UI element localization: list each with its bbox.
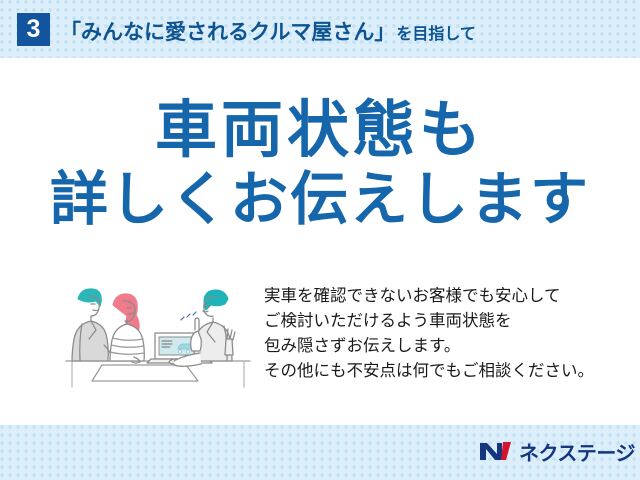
headline-line-1: 車両状態も [0, 96, 640, 166]
body-text: 実車を確認できないお客様でも安心して ご検討いただけるよう車両状態を 包み隠さず… [264, 284, 614, 384]
body-text-line-3: 包み隠さずお伝えします。 [264, 334, 614, 359]
nextage-logo: ネクステージ [478, 436, 635, 466]
body-text-line-2: ご検討いただけるよう車両状態を [264, 309, 614, 334]
body-text-line-4: その他にも不安点は何でもご相談ください。 [264, 359, 614, 384]
page-headline: 車両状態も 詳しくお伝えします [0, 96, 640, 234]
advertisement-page: 3 「みんなに愛されるクルマ屋さん」 を目指して 車両状態も 詳しくお伝えします [0, 0, 640, 480]
nextage-logo-mark [478, 439, 514, 463]
header-title-quoted: 「みんなに愛されるクルマ屋さん」 [60, 16, 395, 46]
header-title-suffix: を目指して [395, 20, 476, 44]
nextage-logo-text: ネクステージ [519, 437, 635, 466]
sales-consultation-illustration [58, 273, 258, 391]
illustration-svg [58, 273, 258, 391]
step-number-badge: 3 [17, 13, 50, 46]
header-title: 「みんなに愛されるクルマ屋さん」 を目指して [60, 16, 476, 44]
headline-line-2: 詳しくお伝えします [0, 166, 640, 234]
content-card: 車両状態も 詳しくお伝えします [0, 58, 640, 425]
body-text-line-1: 実車を確認できないお客様でも安心して [264, 284, 614, 309]
